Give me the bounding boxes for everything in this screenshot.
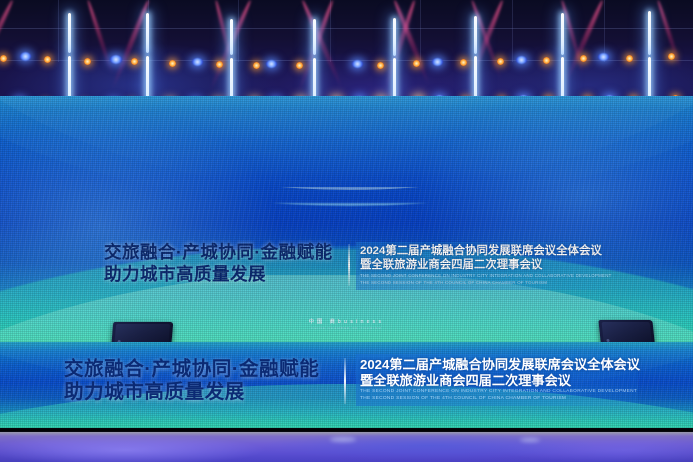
banner-conference-title-block: 2024第二届产城融合协同发展联席会议全体会议 暨全联旅游业商会四届二次理事会议…	[356, 354, 638, 406]
spot-light	[44, 56, 51, 63]
spot-light	[598, 53, 609, 61]
spot-light	[84, 58, 91, 65]
spot-light	[20, 52, 31, 61]
spot-light	[432, 58, 443, 66]
led-bar-light	[474, 56, 477, 100]
spot-light	[497, 58, 504, 65]
led-bar-light	[230, 58, 233, 100]
truss-post	[512, 0, 513, 62]
spot-light	[169, 60, 176, 67]
banner-conference-en-line-1: THE SECOND JOINT CONFERENCE ON INDUSTRY …	[360, 389, 634, 395]
spot-light	[110, 55, 122, 64]
conference-stage-photo: 交旅融合·产城协同·金融赋能 助力城市高质量发展 2024第二届产城融合协同发展…	[0, 0, 693, 462]
banner-conference-cn-line-1: 2024第二届产城融合协同发展联席会议全体会议	[360, 357, 634, 373]
banner-headline-line-1: 交旅融合·产城协同·金融赋能	[64, 358, 319, 381]
banner-conference-en-line-2: THE SECOND SESSION OF THE 4TH COUNCIL OF…	[360, 396, 634, 402]
spot-light	[580, 55, 587, 62]
led-bar-light	[393, 18, 396, 56]
led-bar-light	[146, 13, 149, 53]
led-bar-light	[561, 57, 564, 100]
spot-light	[352, 60, 363, 68]
led-bar-light	[230, 19, 233, 55]
screen-headline: 交旅融合·产城协同·金融赋能 助力城市高质量发展	[104, 242, 348, 284]
spot-light	[516, 56, 527, 64]
truss-post	[420, 0, 421, 62]
conference-en-line-1: THE SECOND JOINT CONFERENCE ON INDUSTRY …	[360, 273, 598, 279]
spot-light	[626, 55, 633, 62]
spot-light	[377, 62, 384, 69]
center-logo: 中国 商business CHINA CHAMBER OF TOURISM	[0, 318, 693, 330]
truss-beam	[0, 60, 693, 61]
conference-cn-line-1: 2024第二届产城融合协同发展联席会议全体会议	[360, 245, 598, 259]
floor-reflection	[330, 437, 356, 442]
led-bar-light	[313, 58, 316, 100]
spot-light	[296, 62, 303, 69]
led-bar-light	[68, 56, 71, 100]
spot-light	[131, 58, 138, 65]
headline-divider	[348, 244, 350, 286]
truss-post	[58, 0, 59, 62]
center-logo-en: CHINA CHAMBER OF TOURISM	[0, 326, 693, 330]
conference-cn-line-2: 暨全联旅游业商会四届二次理事会议	[360, 259, 598, 273]
spot-light	[192, 58, 203, 66]
spot-light	[413, 60, 420, 67]
venue-floor	[0, 432, 693, 462]
conference-title-block: 2024第二届产城融合协同发展联席会议全体会议 暨全联旅游业商会四届二次理事会议…	[356, 242, 602, 290]
conference-en-line-2: THE SECOND SESSION OF THE 4TH COUNCIL OF…	[360, 280, 598, 286]
spot-light	[543, 57, 550, 64]
banner-conference-cn-line-2: 暨全联旅游业商会四届二次理事会议	[360, 373, 634, 389]
spot-light	[253, 62, 260, 69]
stage-lighting-rig	[0, 0, 693, 100]
led-bar-light	[561, 13, 564, 55]
led-bar-light	[313, 19, 316, 55]
led-bar-light	[146, 56, 149, 100]
spot-light	[460, 59, 467, 66]
headline-line-2: 助力城市高质量发展	[104, 264, 348, 284]
spot-light	[266, 60, 277, 68]
banner-headline-line-2: 助力城市高质量发展	[64, 381, 319, 404]
banner-headline-divider	[344, 358, 346, 404]
led-bar-light	[68, 13, 71, 53]
led-bar-light	[648, 11, 651, 55]
spot-light	[668, 53, 675, 60]
center-logo-cn: 中国 商business	[0, 318, 693, 325]
spot-light	[216, 61, 223, 68]
headline-line-1: 交旅融合·产城协同·金融赋能	[104, 242, 348, 262]
led-bar-light	[474, 16, 477, 54]
banner-headline: 交旅融合·产城协同·金融赋能 助力城市高质量发展	[64, 358, 319, 404]
led-bar-light	[648, 57, 651, 100]
spot-light	[0, 55, 7, 62]
led-bar-light	[393, 58, 396, 100]
floor-reflection	[520, 438, 540, 442]
main-led-screen: 交旅融合·产城协同·金融赋能 助力城市高质量发展 2024第二届产城融合协同发展…	[0, 96, 693, 342]
